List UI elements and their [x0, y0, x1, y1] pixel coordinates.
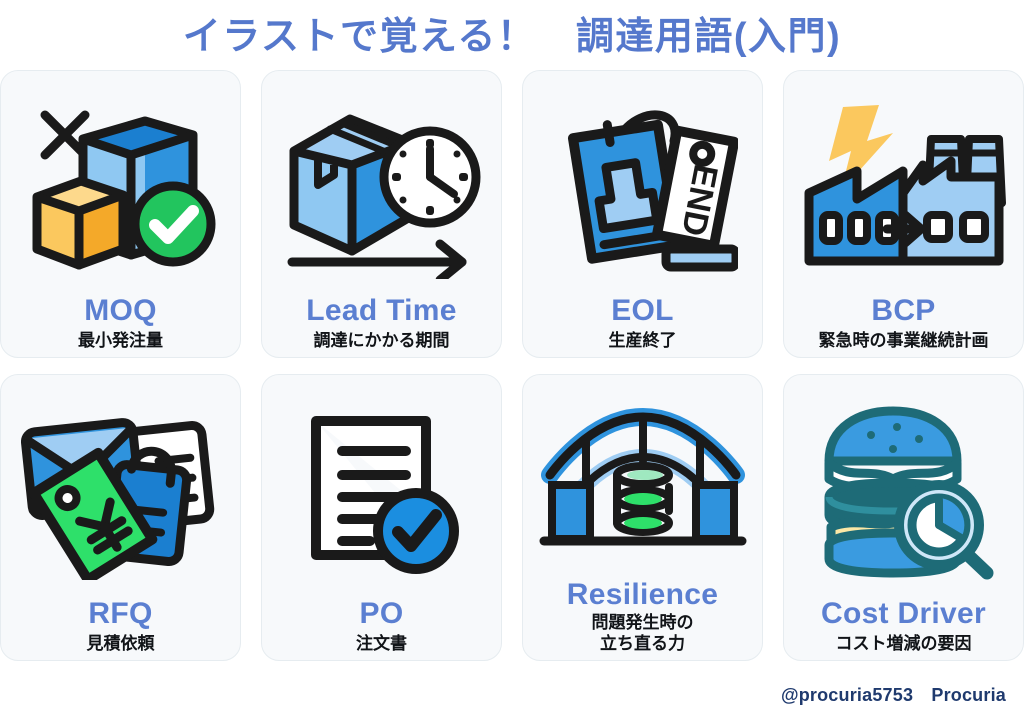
card-desc-label: 調達にかかる期間 [314, 330, 450, 351]
card-term-label: Lead Time [306, 295, 457, 327]
document-check-icon [270, 389, 493, 596]
card-term-label: BCP [871, 295, 935, 327]
page-header: イラストで覚える！ 調達用語(入門) [0, 0, 1024, 70]
card-desc-label: 問題発生時の 立ち直る力 [592, 613, 694, 654]
bridge-spring-icon [531, 389, 754, 577]
box-clock-arrow-icon [270, 85, 493, 293]
term-card-bcp[interactable]: BCP 緊急時の事業継続計画 [783, 70, 1024, 358]
term-card-lead-time[interactable]: Lead Time 調達にかかる期間 [261, 70, 502, 358]
boxes-check-icon [9, 85, 232, 293]
footer-credit: @procuria5753 Procuria [781, 681, 1006, 707]
term-card-cost-driver[interactable]: Cost Driver コスト増減の要因 [783, 374, 1024, 661]
term-card-po[interactable]: PO 注文書 [261, 374, 502, 661]
infographic-page: イラストで覚える！ 調達用語(入門) [0, 0, 1024, 711]
factory-lightning-icon [792, 85, 1015, 293]
card-desc-label: 生産終了 [609, 330, 677, 351]
price-tags-end-icon: END [531, 85, 754, 293]
envelope-yen-tag-icon [9, 389, 232, 596]
card-desc-label: 緊急時の事業継続計画 [819, 330, 989, 351]
burger-magnifier-icon [792, 389, 1015, 596]
term-card-resilience[interactable]: Resilience 問題発生時の 立ち直る力 [522, 374, 763, 661]
term-card-rfq[interactable]: RFQ 見積依頼 [0, 374, 241, 661]
card-term-label: RFQ [88, 598, 152, 630]
card-term-label: EOL [611, 295, 674, 327]
card-desc-label: 見積依頼 [87, 633, 155, 654]
card-term-label: Cost Driver [821, 598, 986, 630]
card-term-label: PO [360, 598, 404, 630]
card-term-label: MOQ [84, 295, 157, 327]
term-card-moq[interactable]: MOQ 最小発注量 [0, 70, 241, 358]
card-desc-label: コスト増減の要因 [836, 633, 972, 654]
card-desc-label: 注文書 [356, 633, 407, 654]
page-title: イラストで覚える！ 調達用語(入門) [183, 18, 841, 56]
card-term-label: Resilience [567, 579, 718, 611]
card-desc-label: 最小発注量 [78, 330, 163, 351]
term-card-eol[interactable]: END EOL 生産終了 [522, 70, 763, 358]
term-card-grid: MOQ 最小発注量 [0, 70, 1024, 661]
